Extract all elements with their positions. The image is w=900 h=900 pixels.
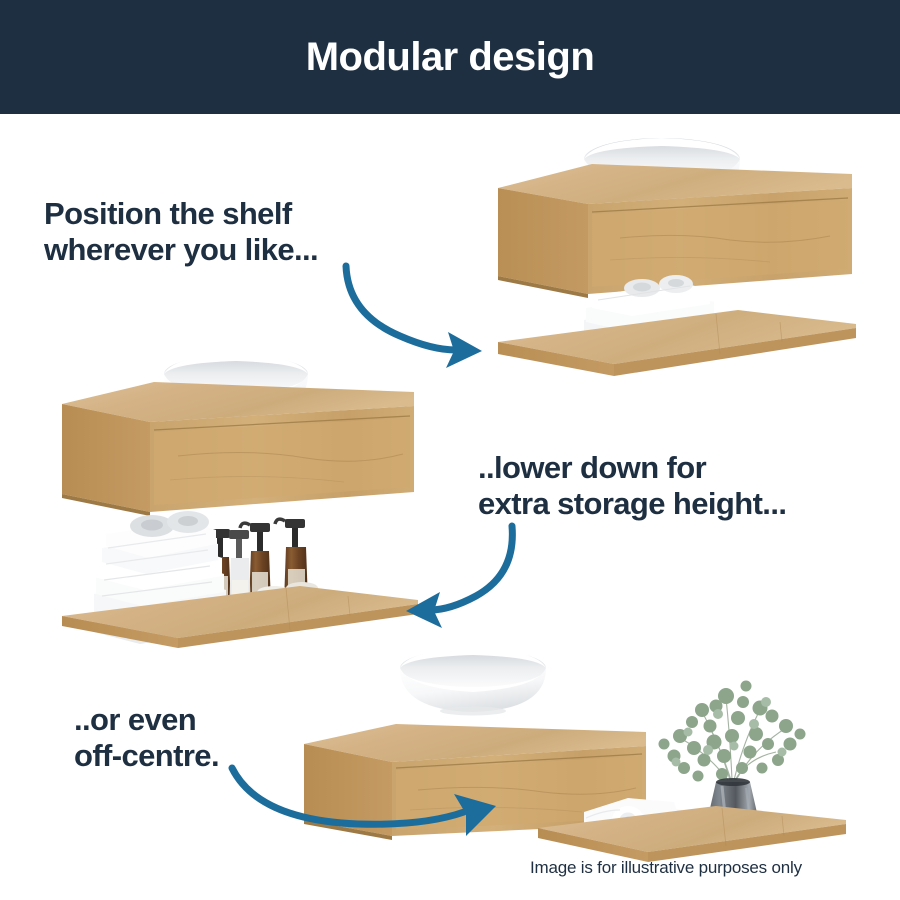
- callout-text-lower-down: ..lower down for extra storage height...: [478, 450, 786, 522]
- header-bar: Modular design: [0, 0, 900, 114]
- callout-text-position-shelf: Position the shelf wherever you like...: [44, 196, 318, 268]
- product-scene-shelf-high: [480, 128, 880, 398]
- arrow-to-scene-1: [340, 258, 510, 368]
- callout-text-off-centre: ..or even off-centre.: [74, 702, 219, 774]
- vanity-unit: [62, 382, 414, 516]
- countertop-basin: [400, 648, 546, 716]
- arrow-to-scene-3: [228, 762, 528, 842]
- modular-shelf: [498, 310, 856, 376]
- disclaimer-text: Image is for illustrative purposes only: [530, 858, 802, 878]
- page-title: Modular design: [306, 35, 595, 80]
- arrow-to-scene-2: [390, 520, 520, 630]
